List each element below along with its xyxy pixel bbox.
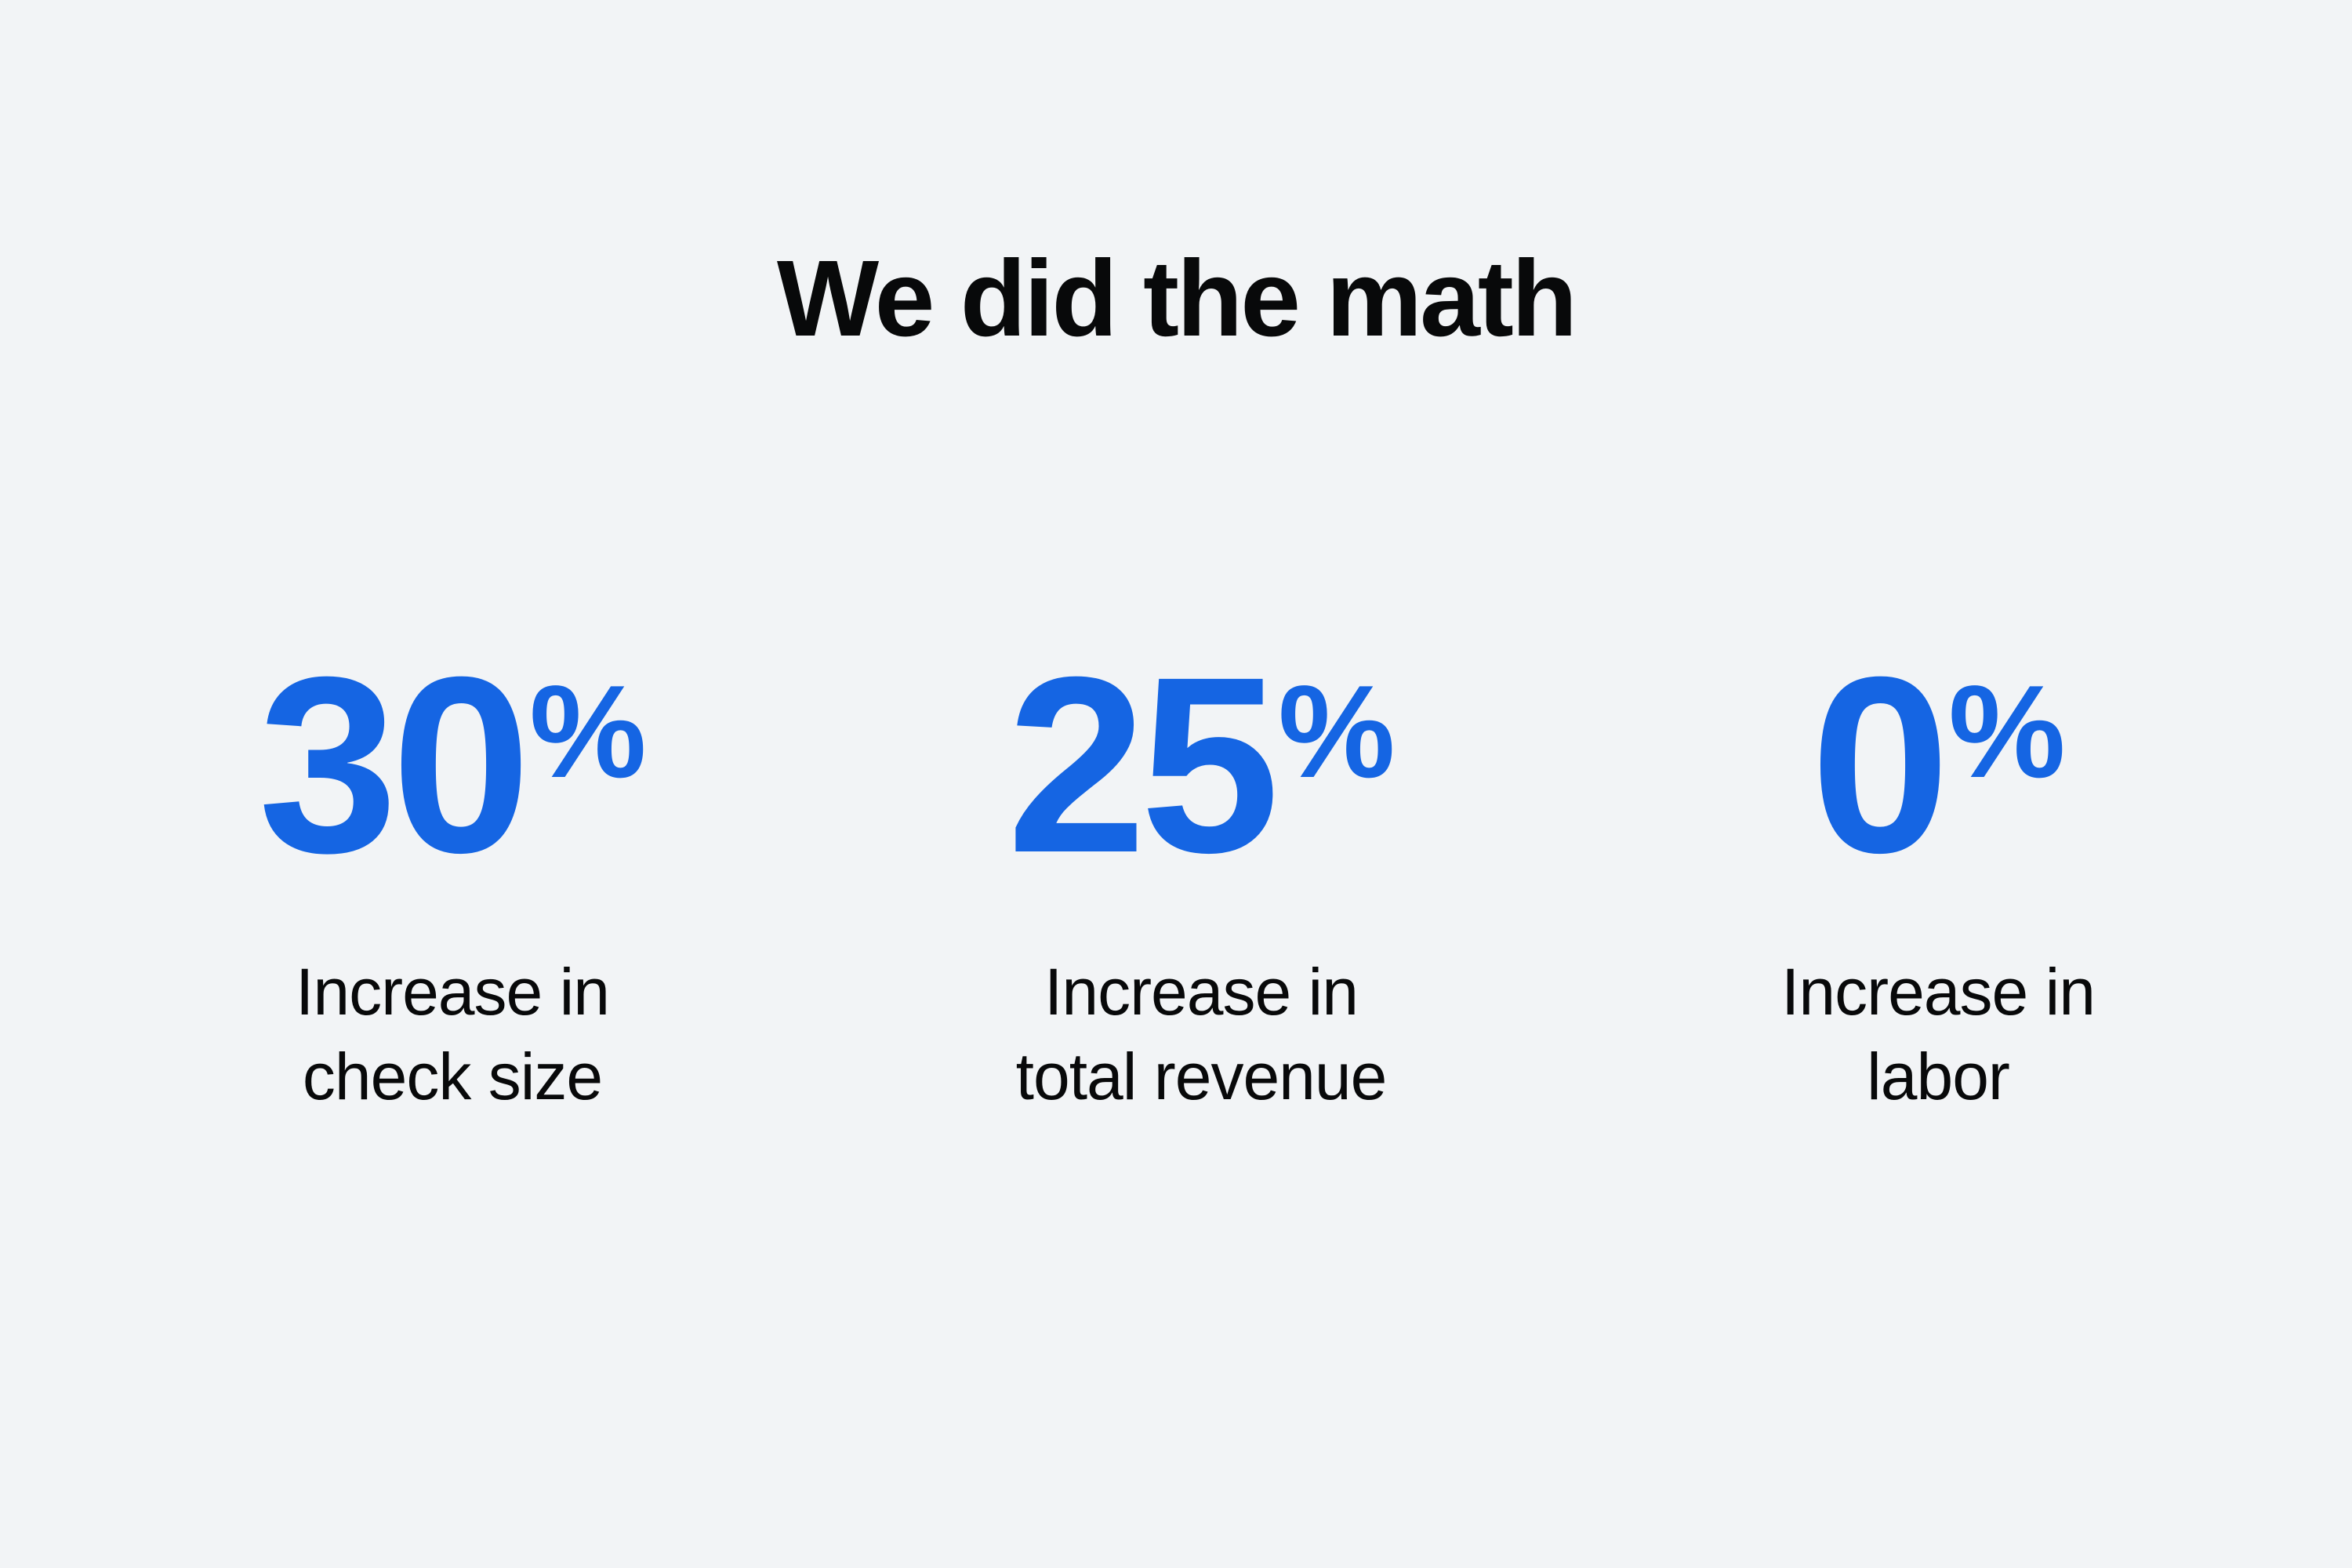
stat-label-labor: Increase in labor xyxy=(1781,950,2095,1119)
stat-block-labor: 0 % Increase in labor xyxy=(1640,674,2236,1119)
percent-symbol-labor: % xyxy=(1948,679,2065,784)
stat-block-total-revenue: 25 % Increase in total revenue xyxy=(903,674,1499,1119)
stats-row: 30 % Increase in check size 25 % Increas… xyxy=(0,674,2352,1160)
stat-label-check-size: Increase in check size xyxy=(296,950,609,1119)
stat-label-line-2: check size xyxy=(296,1035,609,1120)
stat-label-line-1: Increase in xyxy=(1016,950,1387,1035)
stat-block-check-size: 30 % Increase in check size xyxy=(154,674,750,1119)
stat-label-line-1: Increase in xyxy=(1781,950,2095,1035)
percent-symbol-check-size: % xyxy=(529,679,646,784)
stat-number-labor: 0 xyxy=(1810,674,1944,855)
stat-label-total-revenue: Increase in total revenue xyxy=(1016,950,1387,1119)
stat-number-total-revenue: 25 xyxy=(1007,674,1273,855)
infographic-page: We did the math 30 % Increase in check s… xyxy=(0,0,2352,1568)
percent-symbol-total-revenue: % xyxy=(1278,679,1395,784)
stat-value-check-size: 30 % xyxy=(258,674,646,909)
stat-number-check-size: 30 xyxy=(258,674,524,855)
stat-label-line-1: Increase in xyxy=(296,950,609,1035)
stat-value-total-revenue: 25 % xyxy=(1007,674,1395,909)
stat-label-line-2: total revenue xyxy=(1016,1035,1387,1120)
stat-label-line-2: labor xyxy=(1781,1035,2095,1120)
stat-value-labor: 0 % xyxy=(1810,674,2065,909)
page-title: We did the math xyxy=(0,237,2352,361)
